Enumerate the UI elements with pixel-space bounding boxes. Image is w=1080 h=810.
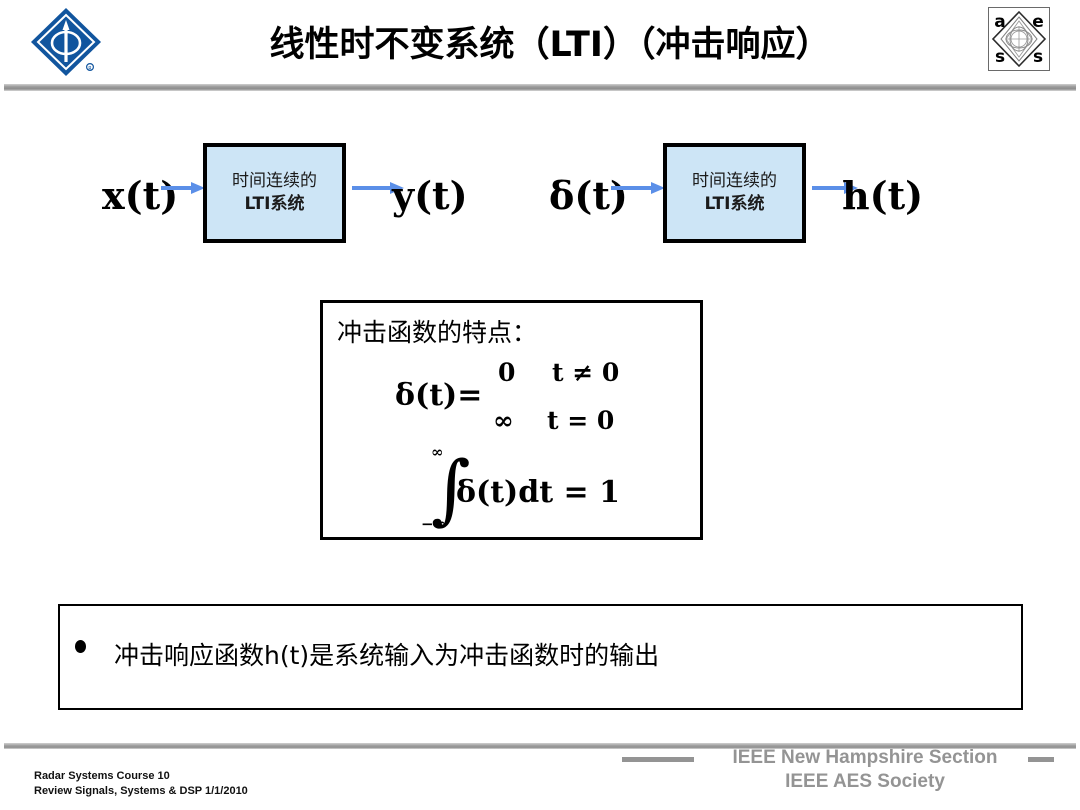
svg-text:s: s	[995, 47, 1005, 67]
footer-course-info: Radar Systems Course 10 Review Signals, …	[34, 769, 248, 799]
footer-organization: IEEE New Hampshire Section IEEE AES Soci…	[700, 746, 1030, 794]
piecewise-value-1: 0	[498, 358, 552, 387]
svg-text:e: e	[1032, 12, 1044, 32]
piecewise-condition-1: t ≠ 0	[552, 358, 619, 387]
integral-equation: ∞ ∫ −∞ δ(t)dt = 1	[323, 443, 706, 541]
arrow-x-to-box1	[161, 181, 205, 195]
page-title: 线性时不变系统（LTI）（冲击响应）	[130, 8, 970, 74]
aess-logo: a e s s	[988, 7, 1050, 71]
footer-right-line2: IEEE AES Society	[700, 770, 1030, 794]
impulse-properties-box: 冲击函数的特点： δ(t)= 0t ≠ 0 ∞t = 0 ∞ ∫ −∞ δ(t)…	[320, 300, 703, 540]
output-label-h: h(t)	[842, 173, 923, 218]
output-label-y: y(t)	[392, 173, 468, 218]
box2-line1: 时间连续的	[692, 170, 777, 193]
slide-header: R 线性时不变系统（LTI）（冲击响应） a e s s	[0, 0, 1080, 86]
lti-system-box-2: 时间连续的 LTI系统	[663, 143, 806, 243]
piecewise-value-2: ∞	[493, 406, 547, 435]
input-label-x: x(t)	[102, 173, 178, 218]
box2-line2: LTI系统	[705, 193, 765, 216]
piecewise-row-2: ∞t = 0	[493, 406, 614, 435]
footer-dash-left	[622, 757, 694, 762]
lti-system-box-1: 时间连续的 LTI系统	[203, 143, 346, 243]
arrow-delta-to-box2	[611, 181, 665, 195]
header-divider	[4, 84, 1076, 91]
svg-text:R: R	[88, 66, 92, 72]
equation-box-title: 冲击函数的特点：	[337, 313, 537, 349]
footer-left-line2: Review Signals, Systems & DSP 1/1/2010	[34, 784, 248, 799]
svg-text:a: a	[994, 12, 1005, 32]
summary-bullet-box: 冲击响应函数h(t)是系统输入为冲击函数时的输出	[58, 604, 1023, 710]
bullet-text: 冲击响应函数h(t)是系统输入为冲击函数时的输出	[114, 636, 659, 672]
box1-line2: LTI系统	[245, 193, 305, 216]
piecewise-row-1: 0t ≠ 0	[498, 358, 619, 387]
box1-line1: 时间连续的	[232, 170, 317, 193]
input-label-delta: δ(t)	[549, 173, 628, 218]
integral-body: δ(t)dt = 1	[456, 475, 620, 510]
piecewise-definition: δ(t)= 0t ≠ 0 ∞t = 0	[323, 358, 706, 443]
footer-left-line1: Radar Systems Course 10	[34, 769, 248, 784]
footer-dash-right	[1028, 757, 1054, 762]
integral-lower-limit: −∞	[421, 515, 446, 533]
footer-right-line1: IEEE New Hampshire Section	[700, 746, 1030, 770]
bullet-marker-icon	[75, 640, 86, 653]
delta-lhs: δ(t)=	[395, 378, 482, 413]
svg-text:s: s	[1033, 47, 1043, 67]
ieee-diamond-logo: R	[28, 6, 104, 78]
piecewise-condition-2: t = 0	[547, 406, 614, 435]
